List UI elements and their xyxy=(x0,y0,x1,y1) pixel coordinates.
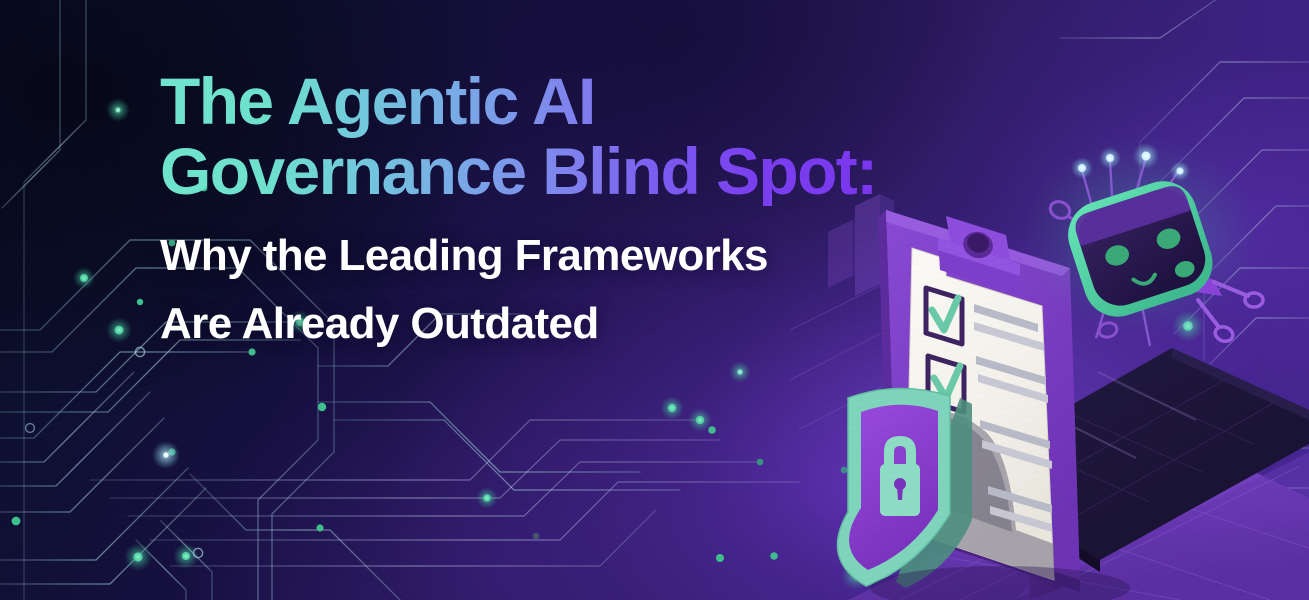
article-hero-banner: The Agentic AI Governance Blind Spot: Wh… xyxy=(0,0,1309,600)
headline-block: The Agentic AI Governance Blind Spot: Wh… xyxy=(160,66,920,358)
page-subtitle: Why the Leading Frameworks Are Already O… xyxy=(160,222,920,358)
page-title: The Agentic AI Governance Blind Spot: xyxy=(160,66,920,206)
